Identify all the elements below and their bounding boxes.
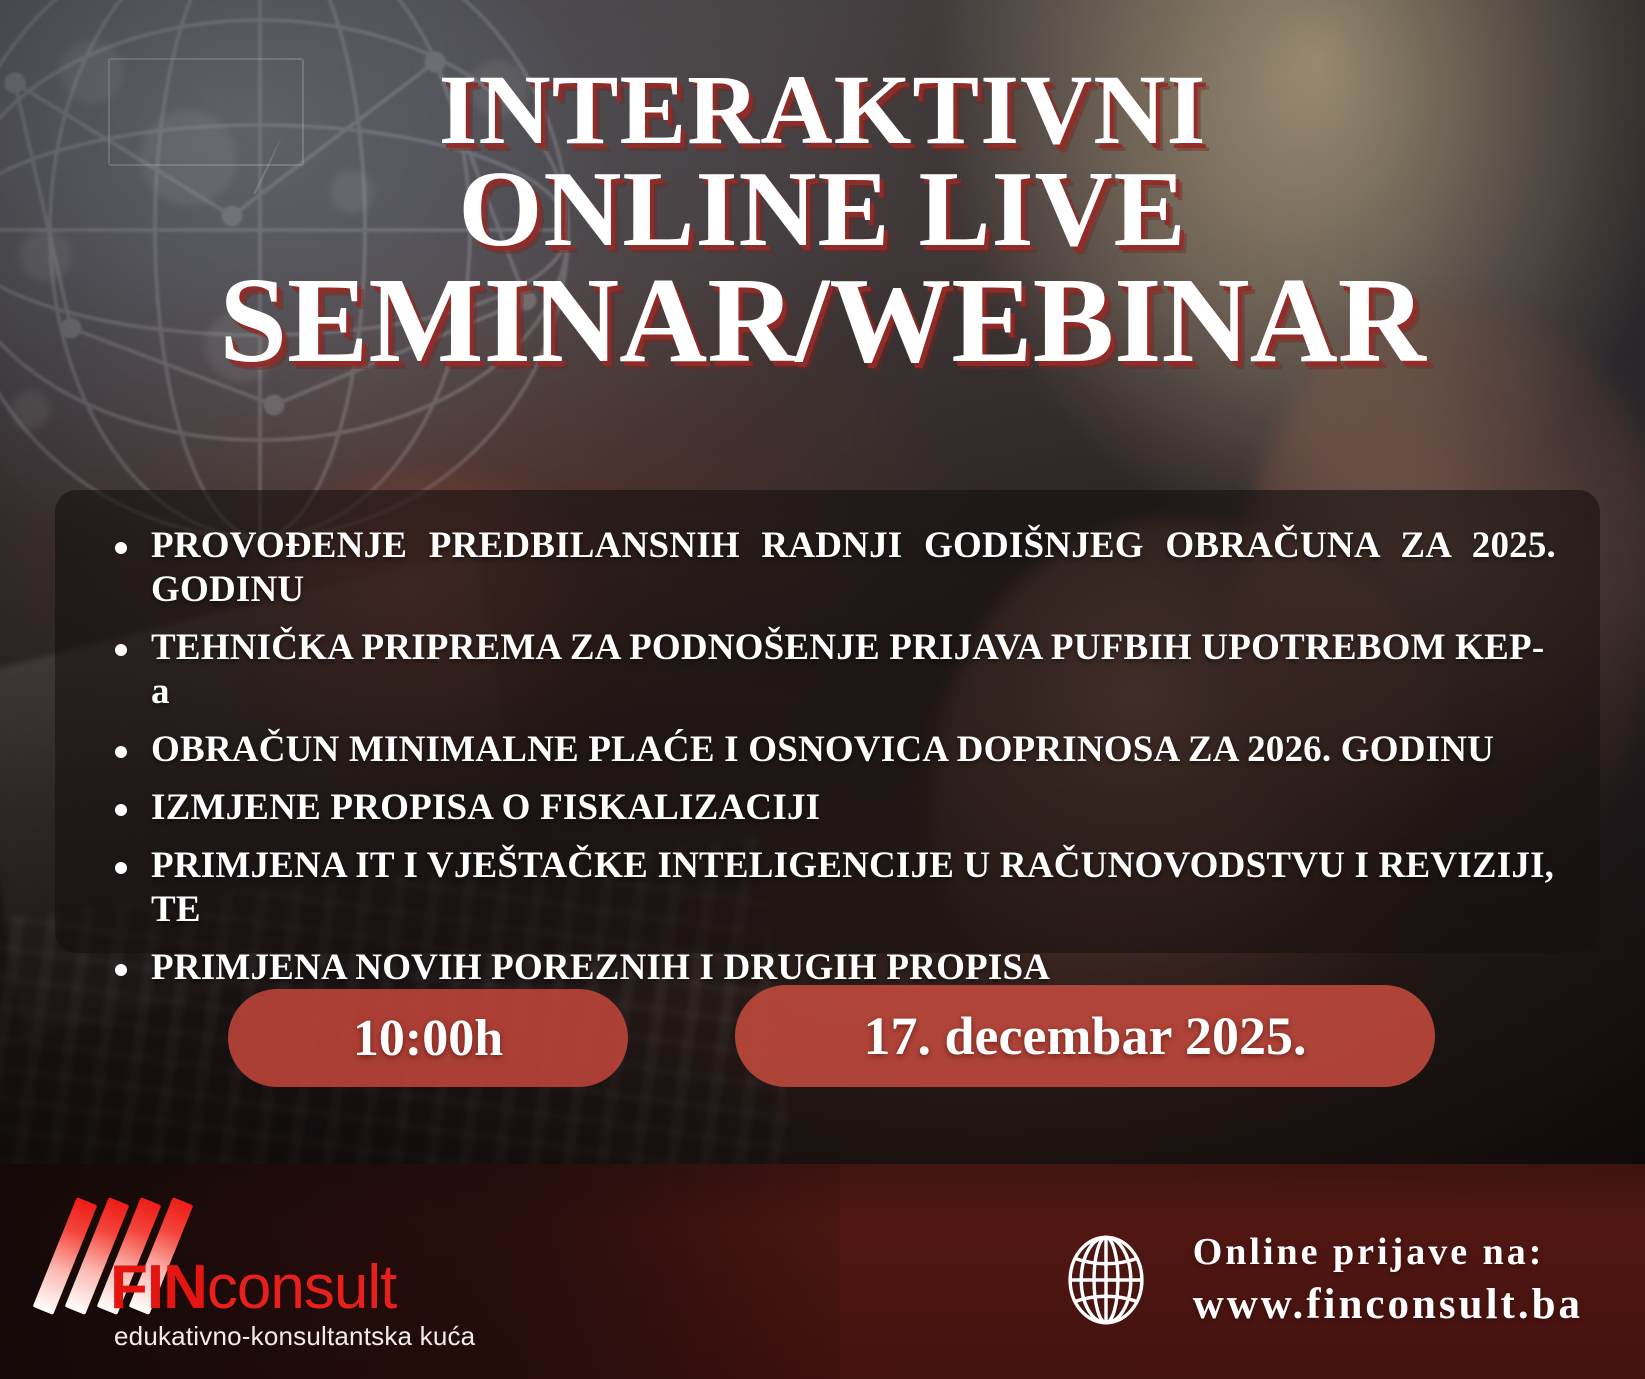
logo-fin-text: FIN <box>110 1253 207 1322</box>
title-line-2: ONLINE LIVE <box>0 158 1645 262</box>
title-line-3: SEMINAR/WEBINAR <box>0 262 1645 379</box>
list-item: IZMJENE PROPISA O FISKALIZACIJI <box>99 786 1556 830</box>
topics-panel: PROVOĐENJE PREDBILANSNIH RADNJI GODIŠNJE… <box>55 490 1600 953</box>
topics-list: PROVOĐENJE PREDBILANSNIH RADNJI GODIŠNJE… <box>99 524 1556 990</box>
topic-text: PRIMJENA NOVIH POREZNIH I DRUGIH PROPISA <box>151 947 1050 988</box>
brand-logo: FINconsult edukativno-konsultantska kuća <box>52 1201 522 1351</box>
logo-wordmark: FINconsult <box>110 1257 396 1319</box>
list-item: PRIMJENA NOVIH POREZNIH I DRUGIH PROPISA <box>99 946 1556 990</box>
topic-text: PRIMJENA IT I VJEŠTAČKE INTELIGENCIJE U … <box>151 845 1554 930</box>
contact-text: Online prijave na: www.finconsult.ba <box>1193 1230 1583 1329</box>
topic-text: OBRAČUN MINIMALNE PLAĆE I OSNOVICA DOPRI… <box>151 729 1494 770</box>
logo-tagline: edukativno-konsultantska kuća <box>114 1321 475 1352</box>
list-item: PRIMJENA IT I VJEŠTAČKE INTELIGENCIJE U … <box>99 844 1556 932</box>
list-item: OBRAČUN MINIMALNE PLAĆE I OSNOVICA DOPRI… <box>99 728 1556 772</box>
title-line-1: INTERAKTIVNI <box>0 62 1645 158</box>
logo-consult-text: consult <box>207 1253 396 1322</box>
contact-website: www.finconsult.ba <box>1193 1280 1583 1329</box>
seminar-poster: INTERAKTIVNI ONLINE LIVE SEMINAR/WEBINAR… <box>0 0 1645 1379</box>
time-badge: 10:00h <box>228 989 628 1087</box>
page-title: INTERAKTIVNI ONLINE LIVE SEMINAR/WEBINAR <box>0 62 1645 379</box>
topic-text: TEHNIČKA PRIPREMA ZA PODNOŠENJE PRIJAVA … <box>151 627 1544 712</box>
list-item: PROVOĐENJE PREDBILANSNIH RADNJI GODIŠNJE… <box>99 524 1556 612</box>
topic-text: PROVOĐENJE PREDBILANSNIH RADNJI GODIŠNJE… <box>151 524 1556 612</box>
date-badge: 17. decembar 2025. <box>735 985 1435 1087</box>
list-item: TEHNIČKA PRIPREMA ZA PODNOŠENJE PRIJAVA … <box>99 626 1556 714</box>
contact-prompt: Online prijave na: <box>1193 1230 1583 1274</box>
globe-icon <box>1063 1233 1149 1327</box>
contact-block: Online prijave na: www.finconsult.ba <box>1063 1230 1583 1329</box>
topic-text: IZMJENE PROPISA O FISKALIZACIJI <box>151 787 820 828</box>
